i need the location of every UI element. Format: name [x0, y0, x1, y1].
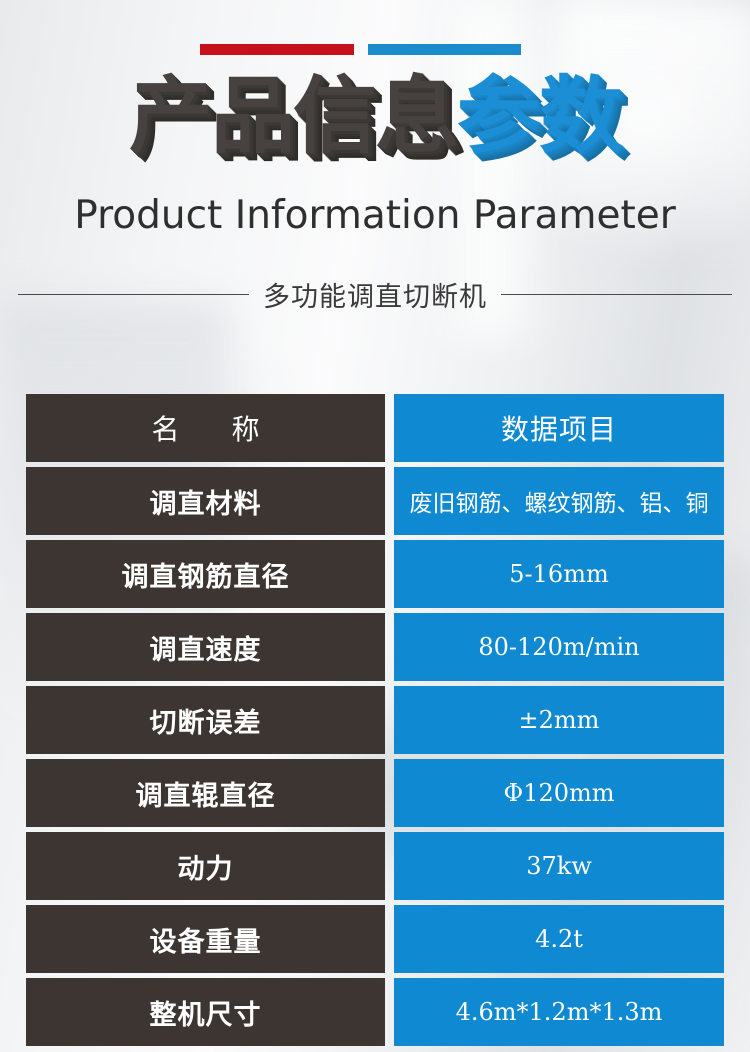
- table-cell-value: 4.6m*1.2m*1.3m: [394, 978, 724, 1046]
- table-row: 调直辊直径Φ120mm: [26, 759, 724, 827]
- table-header-name-cell: 名 称: [26, 394, 385, 462]
- product-parameter-page: 产品信息参数 Product Information Parameter 多功能…: [0, 0, 750, 1052]
- accent-bars: [0, 44, 750, 56]
- product-name-label: 多功能调直切断机: [263, 275, 487, 314]
- table-cell-name: 设备重量: [26, 905, 385, 973]
- table-cell-name: 调直速度: [26, 613, 385, 681]
- table-row: 调直速度80-120m/min: [26, 613, 724, 681]
- subtitle-row: 多功能调直切断机: [18, 272, 732, 316]
- divider-right: [501, 294, 732, 295]
- table-cell-value: 4.2t: [394, 905, 724, 973]
- table-row: 调直材料废旧钢筋、螺纹钢筋、铝、铜: [26, 467, 724, 535]
- table-cell-value: 37kw: [394, 832, 724, 900]
- parameter-table: 名 称数据项目调直材料废旧钢筋、螺纹钢筋、铝、铜调直钢筋直径5-16mm调直速度…: [26, 394, 724, 1051]
- table-cell-name: 整机尺寸: [26, 978, 385, 1046]
- table-row: 整机尺寸4.6m*1.2m*1.3m: [26, 978, 724, 1046]
- accent-bar-blue: [368, 44, 521, 55]
- page-subtitle-english: Product Information Parameter: [0, 193, 750, 238]
- table-cell-value: Φ120mm: [394, 759, 724, 827]
- table-cell-name: 动力: [26, 832, 385, 900]
- table-cell-name: 切断误差: [26, 686, 385, 754]
- page-title-blue-segment: 参数: [457, 67, 621, 165]
- accent-bar-red: [200, 44, 354, 55]
- table-cell-value: 5-16mm: [394, 540, 724, 608]
- table-row: 调直钢筋直径5-16mm: [26, 540, 724, 608]
- table-row: 设备重量4.2t: [26, 905, 724, 973]
- table-cell-value: 80-120m/min: [394, 613, 724, 681]
- page-title-dark-segment: 产品信息: [129, 67, 457, 165]
- table-header-value-cell: 数据项目: [394, 394, 724, 462]
- table-header-row: 名 称数据项目: [26, 394, 724, 462]
- table-cell-name: 调直辊直径: [26, 759, 385, 827]
- table-row: 动力37kw: [26, 832, 724, 900]
- table-row: 切断误差±2mm: [26, 686, 724, 754]
- divider-left: [18, 294, 249, 295]
- table-cell-value: ±2mm: [394, 686, 724, 754]
- page-title: 产品信息参数: [0, 74, 750, 158]
- table-cell-value: 废旧钢筋、螺纹钢筋、铝、铜: [394, 467, 724, 535]
- table-cell-name: 调直材料: [26, 467, 385, 535]
- table-cell-name: 调直钢筋直径: [26, 540, 385, 608]
